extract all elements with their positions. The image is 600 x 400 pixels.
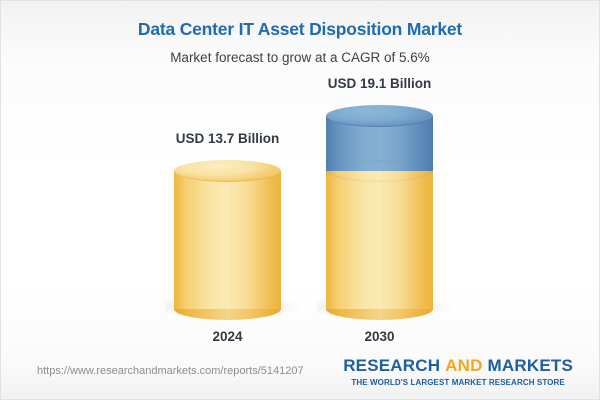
cylinder-2024[interactable] xyxy=(174,171,281,309)
bar-group-2024: USD 13.7 Billion 2024 xyxy=(174,171,281,309)
segment-growth-2030 xyxy=(326,116,433,171)
segment-base-2030 xyxy=(326,171,433,309)
category-label-2030: 2030 xyxy=(364,329,394,344)
infographic-card: Data Center IT Asset Disposition Market … xyxy=(0,0,600,400)
segment-base-2024 xyxy=(174,171,281,309)
logo-word-research: RESEARCH xyxy=(343,356,440,375)
logo-wordmark: RESEARCH AND MARKETS xyxy=(343,357,573,374)
segment-top-cap xyxy=(174,160,281,182)
research-and-markets-logo[interactable]: RESEARCH AND MARKETS THE WORLD'S LARGEST… xyxy=(343,357,573,387)
bar-value-label-2030: USD 19.1 Billion xyxy=(328,76,432,91)
cylinder-2030[interactable] xyxy=(326,116,433,309)
segment-top-cap xyxy=(326,105,433,127)
chart-footer: https://www.researchandmarkets.com/repor… xyxy=(1,347,599,399)
segment-body xyxy=(174,171,281,309)
chart-plot-area: USD 13.7 Billion 2024 USD 19.1 Billion xyxy=(1,1,600,349)
bar-value-label-2024: USD 13.7 Billion xyxy=(176,131,280,146)
category-label-2024: 2024 xyxy=(212,329,242,344)
source-url[interactable]: https://www.researchandmarkets.com/repor… xyxy=(37,365,304,377)
logo-tagline: THE WORLD'S LARGEST MARKET RESEARCH STOR… xyxy=(343,378,573,387)
bar-group-2030: USD 19.1 Billion 2030 xyxy=(326,116,433,309)
segment-body xyxy=(326,171,433,309)
logo-word-and: AND xyxy=(445,356,482,375)
logo-word-markets: MARKETS xyxy=(488,356,573,375)
